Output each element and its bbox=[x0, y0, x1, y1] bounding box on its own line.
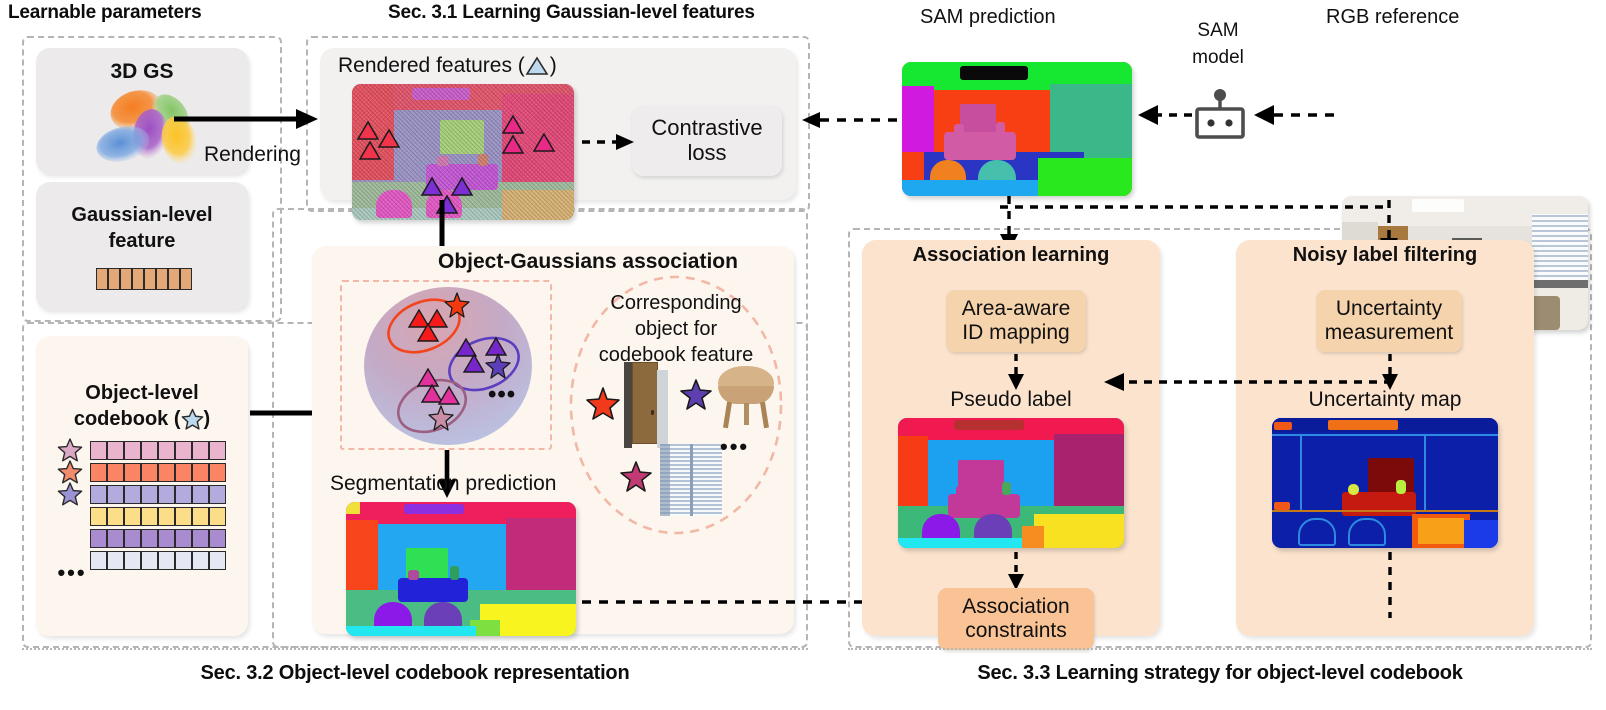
card-association-learning: Association learning Area-aware ID mappi… bbox=[862, 240, 1160, 636]
rendering-arrow bbox=[172, 104, 318, 134]
label-corresponding-line1: Corresponding bbox=[568, 292, 784, 315]
card-object-level-codebook: Object-level codebook ( ) ••• bbox=[36, 336, 248, 636]
stool-thumbnail bbox=[716, 366, 776, 432]
triangle-marks-left bbox=[356, 118, 416, 164]
feature-cell bbox=[158, 551, 175, 570]
feature-cell bbox=[132, 268, 144, 290]
feature-cell bbox=[209, 529, 226, 548]
arrow-sam-to-loss bbox=[802, 110, 914, 130]
feature-cell bbox=[175, 551, 192, 570]
feature-cell bbox=[124, 441, 141, 460]
dashed-line-sam-branch bbox=[1000, 200, 1390, 214]
feature-cell bbox=[107, 507, 124, 526]
star-stool-icon bbox=[680, 378, 712, 410]
association-constraints-line1: Association bbox=[962, 595, 1069, 619]
uncertainty-measurement-line1: Uncertainty bbox=[1325, 297, 1453, 321]
label-corresponding-line3: codebook feature bbox=[568, 344, 784, 367]
feature-cell bbox=[175, 485, 192, 504]
arrow-to-contrastive-loss bbox=[582, 132, 634, 152]
association-constraints-box: Association constraints bbox=[938, 588, 1094, 650]
contrastive-loss-line2: loss bbox=[651, 141, 762, 166]
area-aware-id-mapping-box: Area-aware ID mapping bbox=[946, 290, 1086, 352]
association-constraints-line2: constraints bbox=[962, 619, 1069, 643]
uncertainty-measurement-box: Uncertainty measurement bbox=[1316, 290, 1462, 352]
corresponding-objects-region: Corresponding object for codebook featur… bbox=[568, 274, 784, 536]
label-gaussian-feature-line1: Gaussian-level bbox=[36, 204, 248, 227]
pseudo-label-thumbnail bbox=[898, 418, 1124, 548]
star-door-icon bbox=[586, 386, 620, 420]
card-sec-3-1: Rendered features ( ) bbox=[320, 48, 796, 200]
label-rendering: Rendering bbox=[204, 143, 301, 167]
codebook-rows bbox=[50, 440, 240, 572]
feature-cell bbox=[144, 268, 156, 290]
feature-cell bbox=[192, 485, 209, 504]
rule-sec-3-3 bbox=[848, 648, 1592, 650]
feature-cell bbox=[175, 507, 192, 526]
feature-cell bbox=[175, 529, 192, 548]
contrastive-loss-line1: Contrastive bbox=[651, 116, 762, 141]
feature-cell bbox=[158, 485, 175, 504]
rendered-features-thumbnail bbox=[352, 84, 574, 220]
feature-cell bbox=[141, 529, 158, 548]
feature-cell bbox=[120, 268, 132, 290]
codebook-row-star-icon bbox=[50, 481, 90, 507]
codebook-feature-vector bbox=[90, 551, 226, 570]
codebook-row bbox=[50, 484, 240, 504]
codebook-row bbox=[50, 528, 240, 548]
feature-cell bbox=[158, 463, 175, 482]
triangle-marks-right bbox=[500, 114, 566, 160]
label-corresponding-line2: object for bbox=[568, 318, 784, 341]
star-icon bbox=[181, 408, 204, 431]
uncertainty-measurement-line2: measurement bbox=[1325, 321, 1453, 345]
star-blinds-icon bbox=[620, 460, 652, 492]
codebook-row bbox=[50, 440, 240, 460]
feature-cell bbox=[108, 268, 120, 290]
header-sam-prediction: SAM prediction bbox=[920, 6, 1056, 29]
feature-cell bbox=[209, 551, 226, 570]
header-rgb-reference: RGB reference bbox=[1326, 6, 1459, 29]
feature-cell bbox=[90, 485, 107, 504]
area-aware-line1: Area-aware bbox=[962, 297, 1071, 321]
label-object-gaussians-association: Object-Gaussians association bbox=[438, 250, 738, 274]
sam-prediction-thumbnail bbox=[902, 62, 1132, 196]
uncertainty-map-thumbnail bbox=[1272, 418, 1498, 548]
feature-cell bbox=[90, 529, 107, 548]
feature-cell bbox=[175, 463, 192, 482]
codebook-feature-vector bbox=[90, 441, 226, 460]
card-gaussian-level-feature: Gaussian-level feature bbox=[36, 182, 248, 310]
objects-ellipsis: ••• bbox=[720, 434, 749, 460]
codebook-row bbox=[50, 462, 240, 482]
codebook-feature-vector bbox=[90, 529, 226, 548]
feature-cell bbox=[107, 485, 124, 504]
feature-cell bbox=[90, 463, 107, 482]
svg-text:•••: ••• bbox=[488, 381, 516, 408]
sam-model-robot-icon bbox=[1190, 88, 1250, 142]
feature-cell bbox=[158, 529, 175, 548]
header-learnable-parameters: Learnable parameters bbox=[8, 2, 202, 24]
card-object-gaussians-association: Object-Gaussians association bbox=[312, 246, 794, 634]
feature-cell bbox=[209, 507, 226, 526]
segmentation-prediction-thumbnail bbox=[346, 502, 576, 636]
label-gaussian-feature-line2: feature bbox=[36, 230, 248, 253]
arrow-sam-to-prediction bbox=[1136, 104, 1192, 126]
header-sam-model-line1: SAM bbox=[1180, 20, 1256, 42]
feature-cell bbox=[141, 441, 158, 460]
feature-cell bbox=[96, 268, 108, 290]
feature-cell bbox=[124, 551, 141, 570]
feature-cell bbox=[158, 507, 175, 526]
arrow-uncertainty-to-constraints bbox=[1102, 372, 1392, 392]
label-codebook-line1: Object-level bbox=[36, 382, 248, 405]
arrow-rgb-to-sam bbox=[1252, 104, 1334, 126]
label-rendered-features-text: Rendered features ( bbox=[338, 54, 525, 78]
label-noisy-label-filtering: Noisy label filtering bbox=[1236, 244, 1534, 267]
feature-cell bbox=[141, 507, 158, 526]
feature-cell bbox=[158, 441, 175, 460]
codebook-feature-vector bbox=[90, 463, 226, 482]
footer-sec-3-2: Sec. 3.2 Object-level codebook represent… bbox=[22, 662, 808, 685]
arrow-pseudo-to-constraints bbox=[1005, 552, 1027, 590]
door-thumbnail bbox=[624, 362, 668, 448]
area-aware-line2: ID mapping bbox=[962, 321, 1071, 345]
label-rendered-features: Rendered features ( ) bbox=[338, 54, 557, 78]
header-sec-3-1: Sec. 3.1 Learning Gaussian-level feature… bbox=[388, 2, 755, 24]
gaussian-feature-vector bbox=[96, 268, 192, 290]
triangle-icon bbox=[525, 55, 549, 77]
label-segmentation-prediction: Segmentation prediction bbox=[330, 472, 556, 496]
cluster-dashed-box: ••• bbox=[340, 280, 552, 450]
card-noisy-label-filtering: Noisy label filtering Uncertainty measur… bbox=[1236, 240, 1534, 636]
gaussian-cluster-diagram: ••• bbox=[348, 284, 548, 448]
label-codebook-line2: codebook ( ) bbox=[36, 408, 248, 431]
feature-cell bbox=[209, 463, 226, 482]
feature-cell bbox=[141, 485, 158, 504]
feature-cell bbox=[90, 507, 107, 526]
feature-cell bbox=[180, 268, 192, 290]
feature-cell bbox=[192, 463, 209, 482]
label-rendered-features-close: ) bbox=[550, 54, 557, 78]
label-association-learning: Association learning bbox=[862, 244, 1160, 267]
dashed-uncertainty-down bbox=[1384, 552, 1396, 618]
label-codebook-line2-text: codebook ( bbox=[74, 408, 181, 431]
feature-cell bbox=[192, 529, 209, 548]
feature-cell bbox=[175, 441, 192, 460]
contrastive-loss-box: Contrastive loss bbox=[632, 106, 782, 176]
feature-cell bbox=[124, 529, 141, 548]
feature-cell bbox=[107, 463, 124, 482]
feature-cell bbox=[141, 551, 158, 570]
feature-cell bbox=[124, 507, 141, 526]
feature-cell bbox=[192, 507, 209, 526]
feature-cell bbox=[107, 529, 124, 548]
header-sam-model-line2: model bbox=[1176, 47, 1260, 69]
feature-cell bbox=[107, 551, 124, 570]
feature-cell bbox=[107, 441, 124, 460]
feature-cell bbox=[209, 485, 226, 504]
feature-cell bbox=[141, 463, 158, 482]
feature-cell bbox=[192, 551, 209, 570]
blinds-thumbnail bbox=[660, 444, 722, 516]
figure-root: Learnable parameters Sec. 3.1 Learning G… bbox=[0, 0, 1606, 710]
codebook-feature-vector bbox=[90, 485, 226, 504]
codebook-ellipsis: ••• bbox=[50, 560, 94, 586]
feature-cell bbox=[90, 441, 107, 460]
feature-cell bbox=[209, 441, 226, 460]
feature-cell bbox=[124, 463, 141, 482]
arrow-idmap-to-pseudo bbox=[1005, 354, 1027, 390]
feature-cell bbox=[192, 441, 209, 460]
codebook-row bbox=[50, 506, 240, 526]
feature-cell bbox=[156, 268, 168, 290]
feature-cell bbox=[168, 268, 180, 290]
label-codebook-line2-close: ) bbox=[204, 408, 211, 431]
rule-sec-3-2 bbox=[22, 648, 808, 650]
label-3d-gs: 3D GS bbox=[36, 60, 248, 84]
codebook-feature-vector bbox=[90, 507, 226, 526]
feature-cell bbox=[124, 485, 141, 504]
footer-sec-3-3: Sec. 3.3 Learning strategy for object-le… bbox=[848, 662, 1592, 685]
